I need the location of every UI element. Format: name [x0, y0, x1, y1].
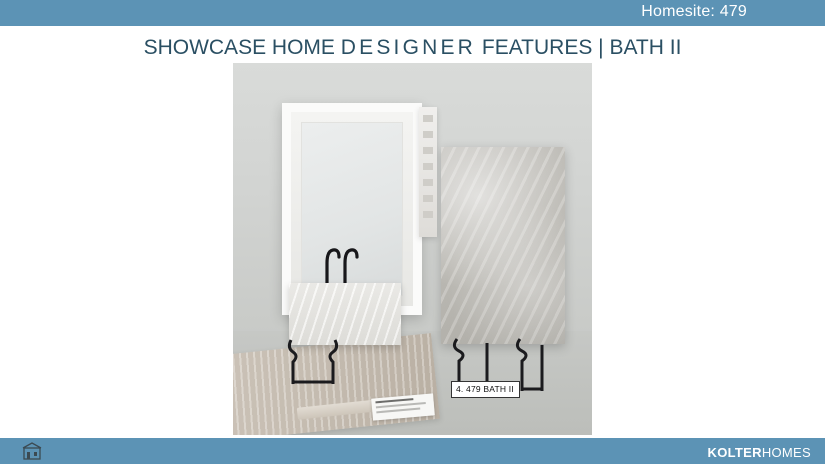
top-banner: Homesite: 479 — [0, 0, 825, 26]
brand-logo: KOLTERHOMES — [708, 445, 811, 460]
building-icon — [22, 441, 42, 461]
faucet-sample — [319, 245, 359, 287]
page-title-part1: SHOWCASE HOME — [144, 36, 341, 59]
quartz-countertop-sample — [289, 283, 401, 345]
page-title-part2: FEATURES | BATH II — [476, 36, 681, 59]
easel-stand-left — [285, 338, 343, 386]
cabinet-hardware-strip — [419, 107, 437, 237]
brand-logo-bold: KOLTER — [708, 445, 762, 460]
stone-tile-sample — [441, 147, 565, 344]
photo-caption-label: 4. 479 BATH II — [451, 381, 520, 398]
footer-banner: KOLTERHOMES — [0, 438, 825, 464]
page-title: SHOWCASE HOME DESIGNER FEATURES | BATH I… — [0, 36, 825, 60]
brand-logo-light: HOMES — [762, 445, 811, 460]
page-title-designer: DESIGNER — [341, 36, 476, 59]
design-selections-photo: 4. 479 BATH II — [233, 63, 592, 435]
homesite-label: Homesite: 479 — [641, 3, 747, 21]
